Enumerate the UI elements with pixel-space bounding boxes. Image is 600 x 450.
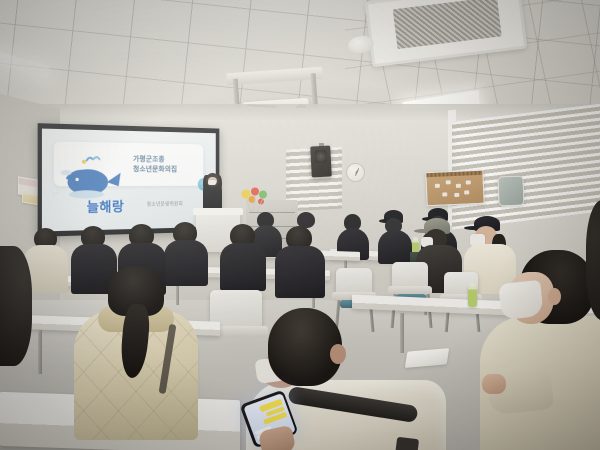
pinned-note: [435, 184, 440, 188]
wall-clock-icon: [346, 163, 365, 182]
slide-title-line-1: 가평군조종: [133, 155, 209, 166]
projection-screen: 가평군조종 청소년문화의집 · · 늘해랑 청소년운영위원회: [38, 123, 220, 237]
chair: [392, 262, 428, 288]
pinned-note: [454, 193, 459, 197]
clock-minute-hand: [355, 171, 357, 176]
drink-bottle: [468, 286, 477, 307]
window-blinds: [452, 102, 600, 230]
attendee-beige-puffer: [486, 250, 600, 450]
pinned-note: [466, 180, 471, 184]
slide-brand-text: 늘해랑: [87, 196, 125, 216]
ear: [548, 288, 561, 305]
balloon-decoration-icon: [238, 186, 276, 214]
hand: [482, 374, 506, 394]
jacket-patch: [395, 437, 419, 450]
table-leg: [38, 330, 42, 374]
pinned-note: [464, 190, 469, 194]
ear: [330, 344, 346, 364]
podium-top: [193, 208, 243, 215]
attendee-using-smartphone: [232, 300, 442, 450]
slide-dots: · ·: [53, 190, 58, 196]
corkboard-rail: [426, 171, 482, 177]
slide-title-line-2: 청소년문화의집: [133, 165, 209, 175]
presenter-face-mask: [208, 180, 216, 185]
pinned-note: [456, 183, 461, 187]
slide-title-text: 가평군조종 청소년문화의집: [133, 155, 209, 175]
wall-control-panel[interactable]: [497, 176, 524, 207]
wall-speaker-icon: [310, 145, 332, 177]
projected-slide: 가평군조종 청소년문화의집 · · 늘해랑 청소년운영위원회: [42, 129, 216, 232]
lecture-room-photo: 가평군조종 청소년문화의집 · · 늘해랑 청소년운영위원회: [0, 0, 600, 450]
pinned-note: [442, 192, 447, 196]
slide-subtitle-text: 청소년운영위원회: [147, 200, 183, 207]
chair: [336, 268, 372, 294]
cork-notice-board: [425, 170, 484, 206]
vent-grille: [393, 0, 502, 49]
speaker-cone: [314, 149, 327, 163]
pinned-note: [446, 180, 451, 184]
attendee-partial: [0, 246, 32, 366]
attendee-cream-puffer: [78, 266, 208, 450]
